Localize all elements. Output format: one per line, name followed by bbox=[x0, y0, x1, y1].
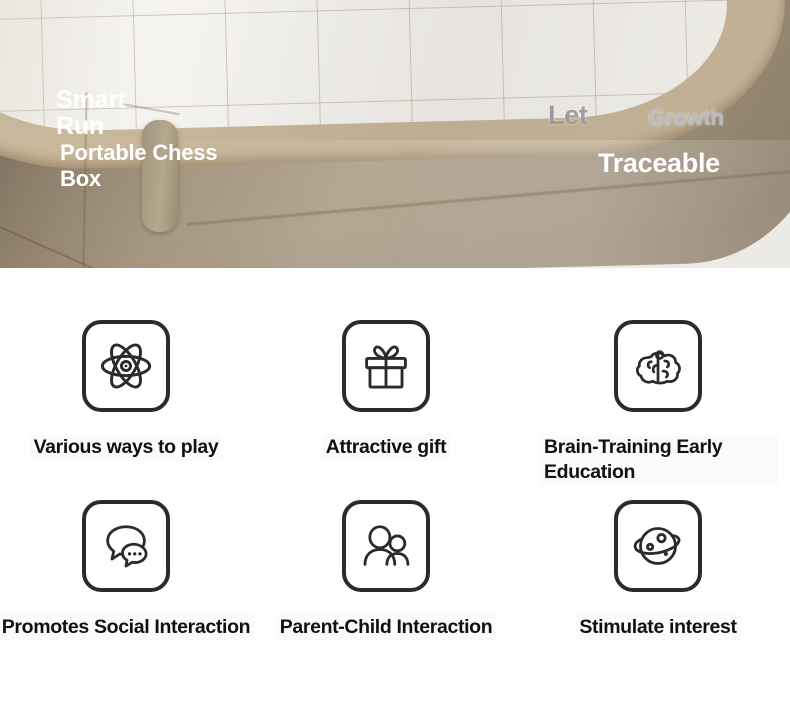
feature-label: Various ways to play bbox=[30, 434, 223, 461]
hero-headline-let: Let bbox=[548, 100, 588, 131]
feature-grid: Various ways to play Attractive gift bbox=[0, 268, 790, 724]
hero-headline-growth: Growth bbox=[648, 105, 724, 131]
hero-headline-left-line1: Smart bbox=[56, 88, 126, 114]
hero-subhead-left: Portable Chess Box bbox=[60, 140, 240, 191]
hero-headline-left: Smart Run bbox=[56, 88, 126, 140]
feature-item-promotes-social-interaction[interactable]: Promotes Social Interaction bbox=[0, 500, 258, 641]
feature-row-2: Promotes Social Interaction Parent-Child… bbox=[0, 500, 790, 641]
feature-item-stimulate-interest[interactable]: Stimulate interest bbox=[526, 500, 790, 641]
feature-label: Parent-Child Interaction bbox=[276, 614, 497, 641]
feature-label: Brain-Training Early Education bbox=[540, 434, 778, 486]
atom-icon bbox=[82, 320, 170, 412]
gift-box-icon bbox=[342, 320, 430, 412]
hero-headline-traceable: Traceable bbox=[598, 148, 720, 179]
hero-product-image: Smart Run Portable Chess Box Let Growth … bbox=[0, 0, 790, 268]
brain-icon bbox=[614, 320, 702, 412]
feature-label: Promotes Social Interaction bbox=[0, 614, 254, 641]
planet-icon bbox=[614, 500, 702, 592]
feature-label: Attractive gift bbox=[322, 434, 450, 461]
feature-item-brain-training-early-education[interactable]: Brain-Training Early Education bbox=[526, 320, 790, 486]
feature-label: Stimulate interest bbox=[575, 614, 740, 641]
speech-bubbles-icon bbox=[82, 500, 170, 592]
hero-headline-left-line2: Run bbox=[56, 114, 126, 140]
feature-item-various-ways-to-play[interactable]: Various ways to play bbox=[0, 320, 258, 486]
feature-item-parent-child-interaction[interactable]: Parent-Child Interaction bbox=[254, 500, 518, 641]
feature-item-attractive-gift[interactable]: Attractive gift bbox=[254, 320, 518, 486]
feature-row-1: Various ways to play Attractive gift bbox=[0, 320, 790, 486]
parent-child-icon bbox=[342, 500, 430, 592]
